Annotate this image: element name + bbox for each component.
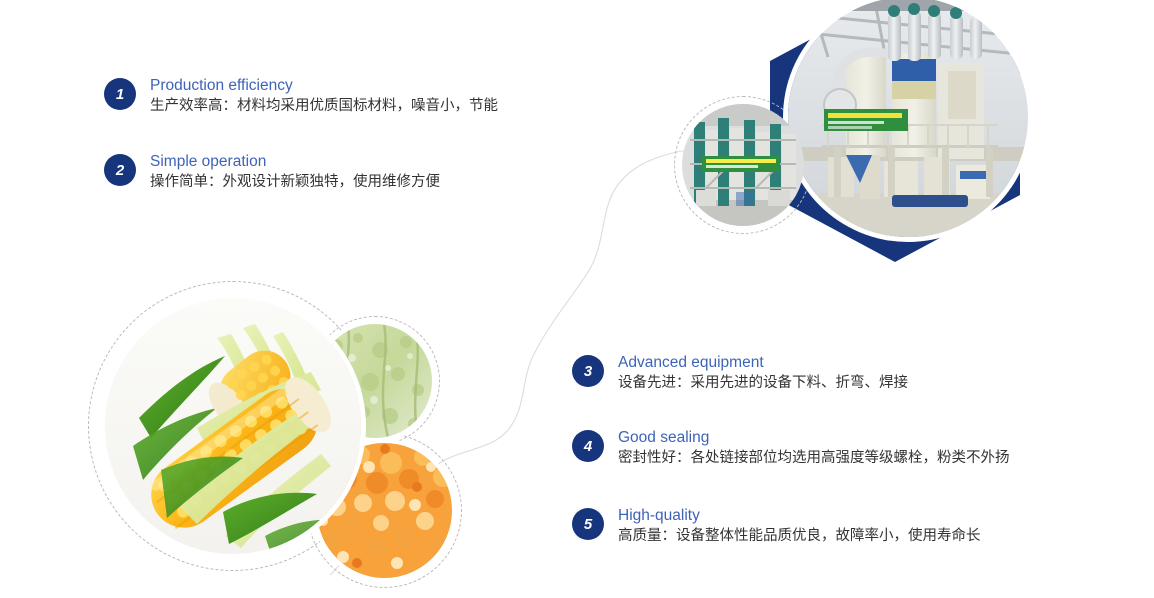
mill-small-photo	[682, 104, 804, 226]
feature-title-5: High-quality	[618, 506, 981, 525]
feature-desc-2: 操作简单：外观设计新颖独特，使用维修方便	[150, 172, 440, 193]
feature-text-3: Advanced equipment 设备先进：采用先进的设备下料、折弯、焊接	[618, 353, 908, 394]
feature-badge-1: 1	[104, 78, 136, 110]
feature-title-2: Simple operation	[150, 152, 440, 171]
feature-badge-3: 3	[572, 355, 604, 387]
feature-desc-3: 设备先进：采用先进的设备下料、折弯、焊接	[618, 373, 908, 394]
feature-badge-5: 5	[572, 508, 604, 540]
feature-text-1: Production efficiency 生产效率高：材料均采用优质国标材料，…	[150, 76, 498, 117]
feature-desc-1: 生产效率高：材料均采用优质国标材料，噪音小，节能	[150, 96, 498, 117]
feature-item-3[interactable]: 3 Advanced equipment 设备先进：采用先进的设备下料、折弯、焊…	[572, 353, 908, 394]
corn-image-cluster	[85, 278, 485, 598]
feature-item-4[interactable]: 4 Good sealing 密封性好：各处链接部位均选用高强度等级螺栓，粉类不…	[572, 428, 1010, 469]
feature-desc-4: 密封性好：各处链接部位均选用高强度等级螺栓，粉类不外扬	[618, 448, 1010, 469]
mill-main-photo	[788, 0, 1028, 237]
feature-desc-5: 高质量：设备整体性能品质优良，故障率小，使用寿命长	[618, 526, 981, 547]
corn-big-photo	[105, 298, 361, 554]
feature-title-4: Good sealing	[618, 428, 1010, 447]
infographic-stage: 1 Production efficiency 生产效率高：材料均采用优质国标材…	[0, 0, 1154, 591]
feature-badge-2: 2	[104, 154, 136, 186]
feature-text-2: Simple operation 操作简单：外观设计新颖独特，使用维修方便	[150, 152, 440, 193]
feature-text-5: High-quality 高质量：设备整体性能品质优良，故障率小，使用寿命长	[618, 506, 981, 547]
feature-item-1[interactable]: 1 Production efficiency 生产效率高：材料均采用优质国标材…	[104, 76, 498, 117]
feature-title-3: Advanced equipment	[618, 353, 908, 372]
feature-item-2[interactable]: 2 Simple operation 操作简单：外观设计新颖独特，使用维修方便	[104, 152, 440, 193]
mill-image-cluster	[660, 0, 1154, 294]
feature-item-5[interactable]: 5 High-quality 高质量：设备整体性能品质优良，故障率小，使用寿命长	[572, 506, 981, 547]
feature-title-1: Production efficiency	[150, 76, 498, 95]
feature-text-4: Good sealing 密封性好：各处链接部位均选用高强度等级螺栓，粉类不外扬	[618, 428, 1010, 469]
feature-badge-4: 4	[572, 430, 604, 462]
